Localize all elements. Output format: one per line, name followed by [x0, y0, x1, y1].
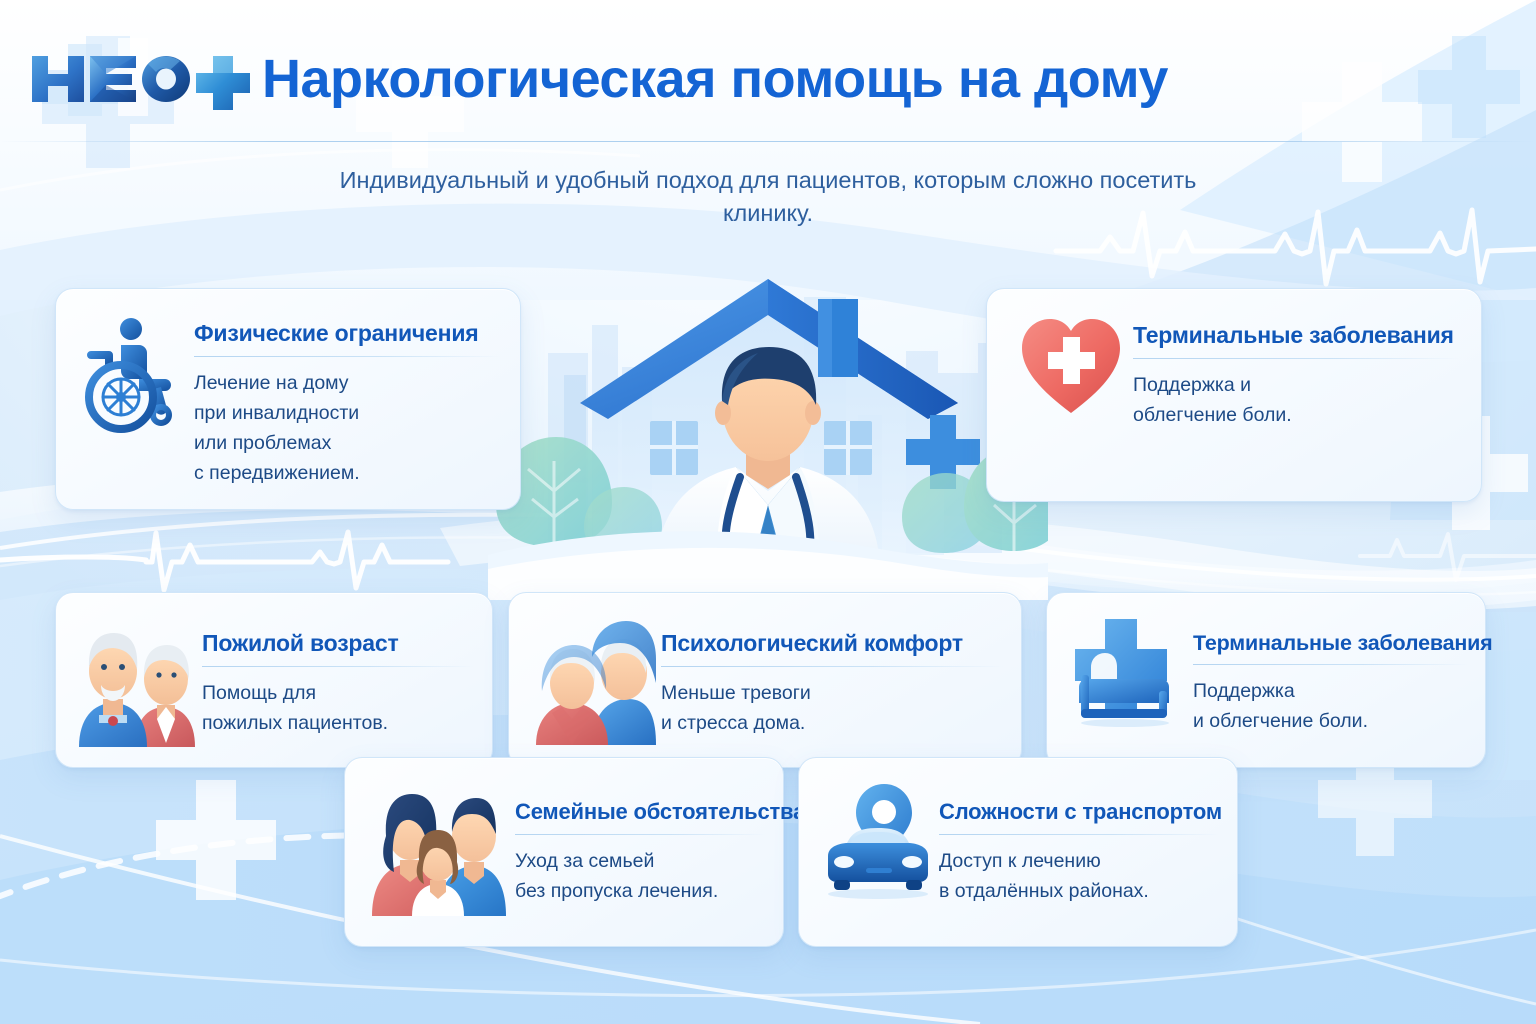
neo-plus-logo[interactable]: [22, 38, 262, 116]
card-icon-wrap: [363, 778, 515, 916]
card-psychological-comfort[interactable]: Психологический комфорт Меньше тревоги и…: [508, 592, 1022, 768]
card-body: Физические ограничения Лечение на дому п…: [194, 311, 500, 489]
card-physical-limitations[interactable]: Физические ограничения Лечение на дому п…: [55, 288, 521, 510]
card-body: Сложности с транспортом Доступ к лечению…: [939, 778, 1221, 906]
card-title: Терминальные заболевания: [1193, 631, 1469, 655]
page-subtitle: Индивидуальный и удобный подход для паци…: [318, 164, 1218, 231]
card-body: Психологический комфорт Меньше тревоги и…: [661, 615, 1003, 738]
card-title: Физические ограничения: [194, 321, 500, 347]
card-icon-wrap: [529, 615, 661, 745]
card-divider: [939, 834, 1221, 835]
family-icon: [366, 780, 512, 916]
card-description: Поддержка и облегчение боли.: [1193, 676, 1469, 736]
page-header: Наркологическая помощь на дому: [0, 0, 1536, 150]
hero-illustration-doctor-at-home: [488, 255, 1048, 600]
card-icon-wrap: [1065, 615, 1193, 729]
car-location-icon: [822, 782, 934, 906]
card-body: Пожилой возраст Помощь для пожилых пацие…: [202, 615, 474, 738]
card-transport-difficulties[interactable]: Сложности с транспортом Доступ к лечению…: [798, 757, 1238, 947]
card-divider: [1133, 358, 1459, 359]
card-title: Пожилой возраст: [202, 631, 474, 657]
card-description: Меньше тревоги и стресса дома.: [661, 678, 1003, 738]
heart-cross-icon: [1018, 317, 1124, 415]
card-description: Лечение на дому при инвалидности или про…: [194, 368, 500, 489]
infographic-canvas: Наркологическая помощь на дому Индивидуа…: [0, 0, 1536, 1024]
card-icon-wrap: [76, 311, 194, 435]
card-title: Сложности с транспортом: [939, 800, 1221, 825]
card-divider: [661, 666, 1003, 667]
two-people-icon: [534, 617, 656, 745]
hospital-bed-cross-icon: [1071, 617, 1187, 729]
card-icon-wrap: [817, 778, 939, 906]
card-divider: [1193, 664, 1469, 665]
card-title: Семейные обстоятельства: [515, 800, 767, 825]
card-description: Доступ к лечению в отдалённых районах.: [939, 846, 1221, 906]
card-divider: [194, 356, 500, 357]
card-icon-wrap: [1009, 315, 1133, 415]
card-terminal-illness-heart[interactable]: Терминальные заболевания Поддержка и обл…: [986, 288, 1482, 502]
card-family-circumstances[interactable]: Семейные обстоятельства Уход за семьей б…: [344, 757, 784, 947]
header-divider: [0, 141, 1536, 142]
card-divider: [202, 666, 474, 667]
wheelchair-icon: [83, 317, 187, 435]
card-description: Уход за семьей без пропуска лечения.: [515, 846, 767, 906]
card-body: Терминальные заболевания Поддержка и обл…: [1193, 615, 1469, 737]
card-elderly-age[interactable]: Пожилой возраст Помощь для пожилых пацие…: [55, 592, 493, 768]
card-title: Терминальные заболевания: [1133, 323, 1459, 349]
card-description: Поддержка и облегчение боли.: [1133, 370, 1459, 430]
page-title: Наркологическая помощь на дому: [262, 52, 1168, 106]
card-body: Терминальные заболевания Поддержка и обл…: [1133, 315, 1459, 430]
card-title: Психологический комфорт: [661, 631, 1003, 657]
card-body: Семейные обстоятельства Уход за семьей б…: [515, 778, 767, 906]
elderly-couple-icon: [77, 615, 199, 747]
card-divider: [515, 834, 767, 835]
card-description: Помощь для пожилых пациентов.: [202, 678, 474, 738]
card-icon-wrap: [74, 615, 202, 747]
card-terminal-illness-bed[interactable]: Терминальные заболевания Поддержка и обл…: [1046, 592, 1486, 768]
